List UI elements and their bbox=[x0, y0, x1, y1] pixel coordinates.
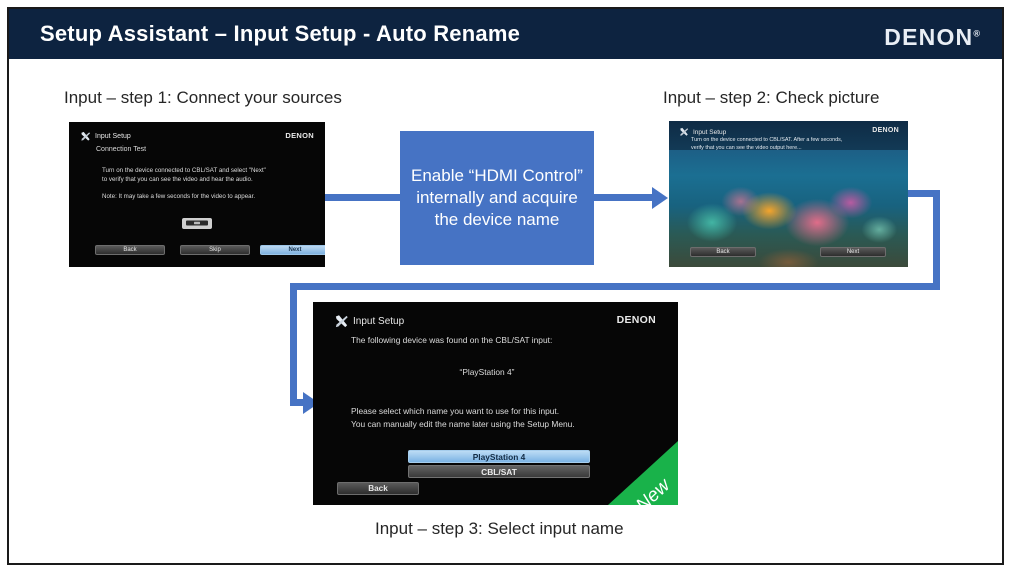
osd3-title: Input Setup bbox=[353, 316, 404, 327]
osd2-body-line-1: Turn on the device connected to CBL/SAT.… bbox=[691, 137, 842, 143]
page-title: Setup Assistant – Input Setup - Auto Ren… bbox=[40, 21, 520, 47]
osd3-back-button[interactable]: Back bbox=[337, 482, 419, 495]
osd-screen-step-1: Input Setup DENON Connection Test Turn o… bbox=[69, 122, 325, 267]
osd3-option-playstation-4[interactable]: PlayStation 4 bbox=[408, 450, 590, 463]
osd2-body: Turn on the device connected to CBL/SAT.… bbox=[691, 137, 891, 152]
callout-box: Enable “HDMI Control” internally and acq… bbox=[400, 131, 594, 265]
osd1-body-line-1: Turn on the device connected to CBL/SAT … bbox=[102, 167, 266, 174]
osd3-brand: DENON bbox=[617, 314, 656, 326]
osd1-next-button[interactable]: Next bbox=[260, 245, 325, 255]
osd1-body: Turn on the device connected to CBL/SAT … bbox=[102, 167, 302, 210]
arrow-shaft bbox=[594, 194, 652, 201]
osd3-name-option-list: PlayStation 4 CBL/SAT bbox=[408, 450, 590, 480]
title-bar: Setup Assistant – Input Setup - Auto Ren… bbox=[9, 9, 1002, 59]
registered-mark-icon: ® bbox=[973, 28, 980, 38]
osd2-title: Input Setup bbox=[693, 129, 726, 136]
caption-step-3: Input – step 3: Select input name bbox=[375, 519, 624, 539]
arrow-shaft-v-left bbox=[290, 283, 297, 403]
osd3-hint: Please select which name you want to use… bbox=[351, 405, 651, 430]
arrow-head-icon bbox=[652, 187, 668, 209]
arrow-shaft bbox=[325, 194, 405, 201]
osd-screen-step-3: Input Setup DENON The following device w… bbox=[313, 302, 678, 505]
denon-logo-text: DENON bbox=[884, 24, 973, 50]
osd3-found-text: The following device was found on the CB… bbox=[351, 334, 651, 346]
arrow-shaft-v-right bbox=[933, 190, 940, 290]
osd1-body-para-1: Turn on the device connected to CBL/SAT … bbox=[102, 167, 302, 185]
osd2-next-button[interactable]: Next bbox=[820, 247, 886, 257]
callout-text: Enable “HDMI Control” internally and acq… bbox=[409, 165, 585, 230]
denon-logo: DENON® bbox=[884, 24, 980, 51]
osd3-body: The following device was found on the CB… bbox=[351, 334, 651, 431]
osd2-brand: DENON bbox=[872, 127, 899, 134]
osd1-back-button[interactable]: Back bbox=[95, 245, 165, 255]
caption-step-1: Input – step 1: Connect your sources bbox=[64, 88, 342, 108]
arrow-shaft-h-bottom bbox=[290, 283, 940, 290]
tools-icon bbox=[334, 314, 349, 329]
osd-screen-step-2: Input Setup DENON Turn on the device con… bbox=[669, 121, 908, 267]
osd3-option-cbl-sat[interactable]: CBL/SAT bbox=[408, 465, 590, 478]
osd1-title: Input Setup bbox=[95, 133, 131, 140]
osd1-body-line-3: Note: It may take a few seconds for the … bbox=[102, 193, 255, 200]
caption-step-2: Input – step 2: Check picture bbox=[663, 88, 879, 108]
osd3-hint-line-1: Please select which name you want to use… bbox=[351, 406, 559, 416]
osd2-title-row: Input Setup bbox=[679, 127, 726, 137]
osd1-body-line-2: to verify that you can see the video and… bbox=[102, 176, 253, 183]
osd3-hint-line-2: You can manually edit the name later usi… bbox=[351, 419, 575, 429]
osd1-skip-button[interactable]: Skip bbox=[180, 245, 250, 255]
osd1-subtitle: Connection Test bbox=[96, 146, 146, 153]
osd1-title-row: Input Setup bbox=[80, 131, 131, 142]
osd2-body-line-2: verify that you can see the video output… bbox=[691, 145, 802, 151]
osd2-back-button[interactable]: Back bbox=[690, 247, 756, 257]
tools-icon bbox=[679, 127, 689, 137]
set-top-box-icon bbox=[180, 215, 214, 232]
osd1-body-para-2: Note: It may take a few seconds for the … bbox=[102, 193, 302, 202]
osd1-brand: DENON bbox=[285, 131, 314, 140]
osd3-device-name: “PlayStation 4” bbox=[351, 366, 623, 378]
tools-icon bbox=[80, 131, 91, 142]
osd3-title-row: Input Setup bbox=[334, 314, 404, 329]
slide-canvas: Setup Assistant – Input Setup - Auto Ren… bbox=[0, 0, 1011, 572]
new-badge-ribbon: New bbox=[608, 441, 678, 505]
